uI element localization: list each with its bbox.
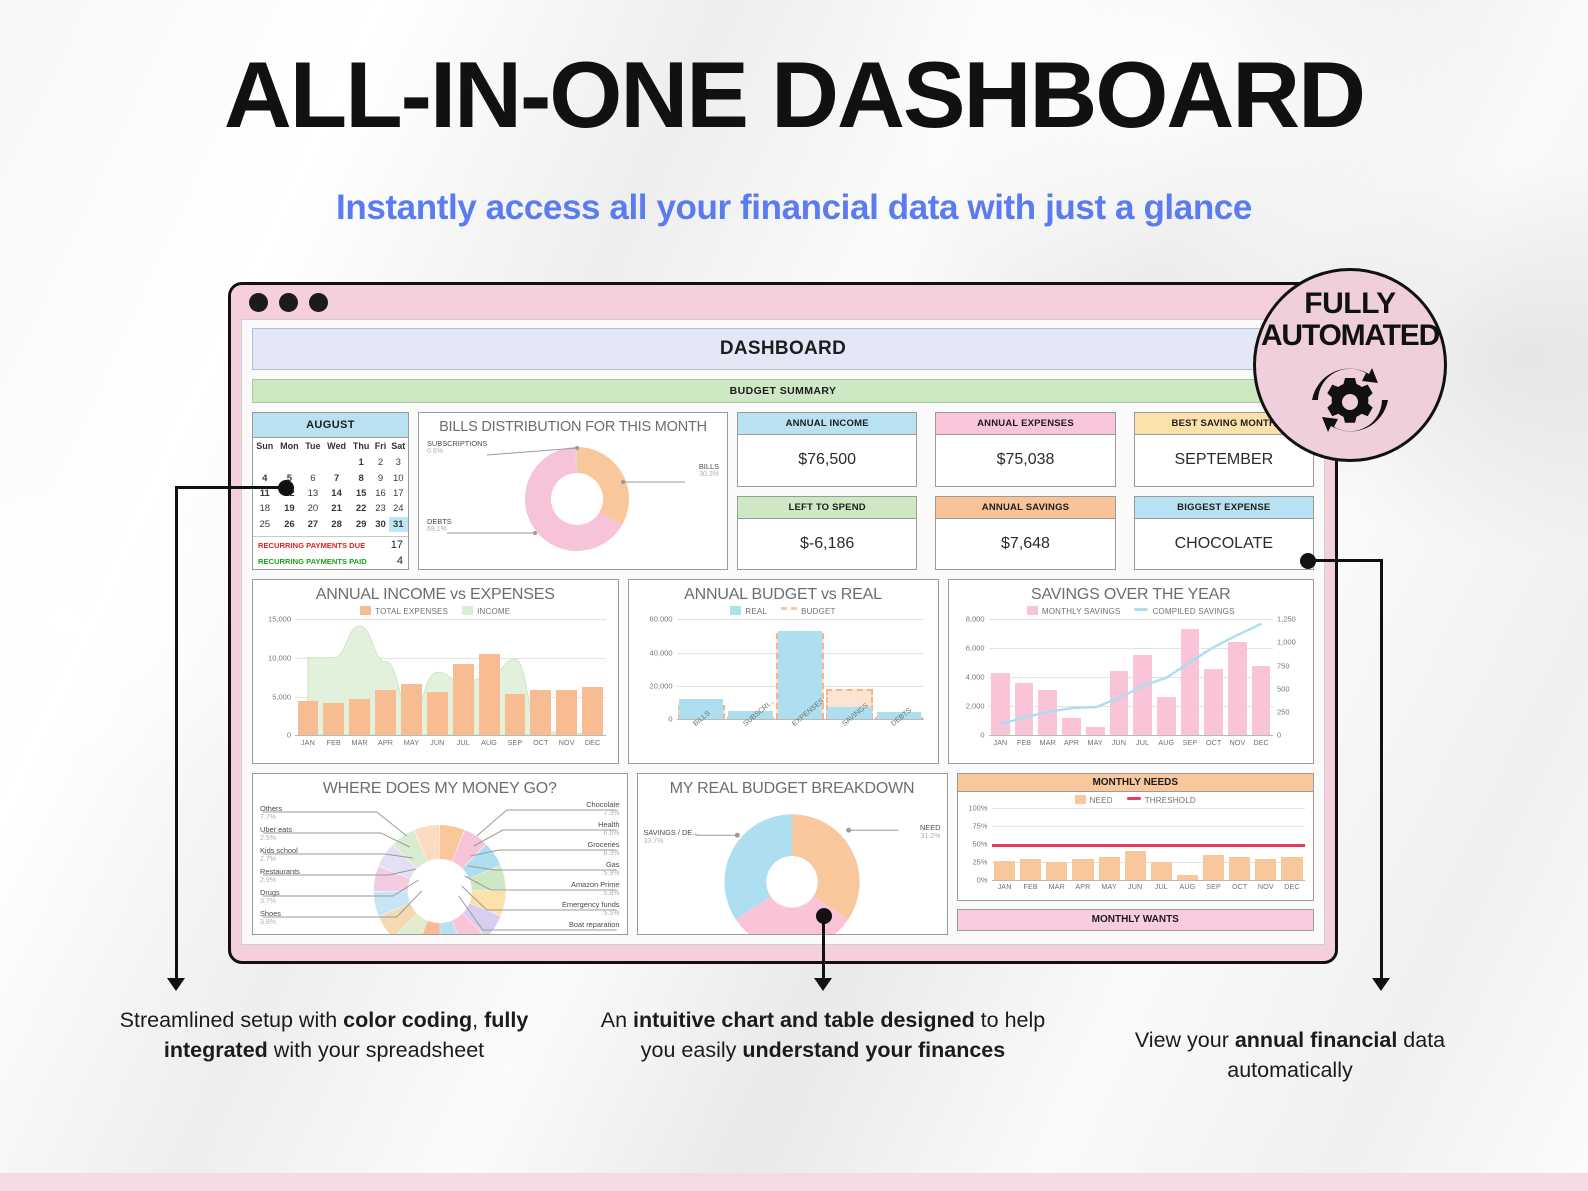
label-text: Groceries (587, 840, 619, 849)
calendar-day[interactable] (302, 455, 323, 470)
badge-line-2: AUTOMATED (1261, 319, 1439, 352)
calendar-day[interactable]: 17 (389, 486, 408, 501)
calendar-day[interactable]: 10 (389, 470, 408, 485)
calendar-day[interactable]: 19 (277, 501, 303, 516)
label-text: Amazon Prime (571, 880, 619, 889)
fully-automated-badge: FULLY AUTOMATED (1253, 268, 1447, 462)
calendar-day[interactable]: 22 (350, 501, 373, 516)
annotation-caption-center: An intuitive chart and table designed to… (588, 1006, 1058, 1065)
calendar-footer-row: RECURRING PAYMENTS DUE17 (253, 537, 408, 553)
label-pct: 3.7% (260, 898, 280, 907)
axis-tick-label: MAY (399, 738, 425, 747)
plot-budget-real: 60,000 40,000 20,000 0 (677, 619, 924, 719)
calendar-weekday: Sat (389, 438, 408, 455)
calendar-footer-label: RECURRING PAYMENTS PAID (258, 557, 367, 566)
kpi-card[interactable]: ANNUAL SAVINGS$7,648 (935, 496, 1115, 571)
window-close-dot[interactable] (249, 293, 268, 312)
label-pct: 7.7% (260, 814, 282, 823)
axis-tick-label: APR (1070, 882, 1096, 891)
calendar-day[interactable]: 24 (389, 501, 408, 516)
label-pct: 2.9% (260, 877, 300, 886)
monthly-needs-panel: MONTHLY NEEDS NEED THRESHOLD 100% 75% 50… (957, 773, 1315, 901)
calendar-footer-row: RECURRING PAYMENTS PAID4 (253, 553, 408, 569)
pie-label-savings-debts: SAVINGS / DE... 33.7% (644, 828, 699, 846)
axis-tick-label: JAN (992, 882, 1018, 891)
plot-income-expenses: 15,000 10,000 5,000 0 (295, 619, 606, 735)
legend-monthly-needs: NEED THRESHOLD (958, 795, 1314, 805)
kpi-value: $-6,186 (738, 519, 916, 570)
calendar-weekday-row: SunMonTueWedThuFriSat (253, 438, 408, 455)
xaxis-monthly-needs: JANFEBMARAPRMAYJUNJULAUGSEPOCTNOVDEC (992, 882, 1306, 891)
calendar-day[interactable]: 8 (350, 470, 373, 485)
calendar-week: 18192021222324 (253, 501, 408, 516)
label-pct: 5.5% (562, 910, 620, 919)
bottom-strip (0, 1173, 1588, 1191)
label-text: Uber eats (260, 825, 292, 834)
calendar-day[interactable]: 23 (373, 501, 389, 516)
annotation-caption-left: Streamlined setup with color coding, ful… (104, 1006, 544, 1065)
kpi-label: ANNUAL EXPENSES (936, 413, 1114, 435)
label-pct: 7.3% (586, 810, 619, 819)
calendar-day[interactable]: 27 (302, 517, 323, 532)
bar (1281, 857, 1302, 881)
pie-label-bills: BILLS 30.3% (699, 462, 719, 480)
chart-title-income-expenses: ANNUAL INCOME vs EXPENSES (261, 586, 610, 604)
label-text: Health (598, 820, 619, 829)
real-bar-series (677, 619, 924, 719)
bar (479, 654, 500, 736)
bar (1203, 855, 1224, 880)
window-maximize-dot[interactable] (309, 293, 328, 312)
annual-income-vs-expenses-panel: ANNUAL INCOME vs EXPENSES TOTAL EXPENSES… (252, 579, 619, 764)
bar (298, 701, 319, 735)
calendar-body[interactable]: 1234567891011121314151617181920212223242… (253, 455, 408, 536)
bar (505, 694, 526, 735)
bar (323, 703, 344, 735)
money-go-label: Chocolate7.3% (586, 800, 619, 818)
money-go-label: Amazon Prime5.8% (571, 880, 619, 898)
label-text: Boat reparation (569, 920, 620, 929)
kpi-card[interactable]: ANNUAL EXPENSES$75,038 (935, 412, 1115, 487)
calendar-day[interactable]: 14 (324, 486, 350, 501)
annual-budget-vs-real-panel: ANNUAL BUDGET vs REAL REAL BUDGET 60,000… (628, 579, 939, 764)
axis-tick-label: MAR (1044, 882, 1070, 891)
calendar-weekday: Sun (253, 438, 277, 455)
money-go-label: Health6.6% (598, 820, 619, 838)
plot-savings: 8,000 1,250 6,000 1,000 4,000 750 2,000 … (989, 619, 1274, 735)
money-go-label: Boat reparation (569, 920, 620, 929)
kpi-label: LEFT TO SPEND (738, 497, 916, 519)
calendar-weekday: Wed (324, 438, 350, 455)
money-go-label: Shoes3.8% (260, 909, 281, 927)
page-title: ALL-IN-ONE DASHBOARD (0, 48, 1588, 142)
kpi-card[interactable]: LEFT TO SPEND$-6,186 (737, 496, 917, 571)
axis-tick-label: NOV (554, 738, 580, 747)
calendar-day[interactable]: 25 (253, 517, 277, 532)
calendar-day[interactable] (324, 455, 350, 470)
bar (427, 692, 448, 735)
axis-tick-label: DEC (580, 738, 606, 747)
page-subtitle: Instantly access all your financial data… (0, 188, 1588, 228)
kpi-label: ANNUAL SAVINGS (936, 497, 1114, 519)
label-text: Shoes (260, 909, 281, 918)
label-text: Chocolate (586, 800, 619, 809)
legend-income-expenses: TOTAL EXPENSES INCOME (261, 606, 610, 616)
axis-tick-label: SEP (1201, 882, 1227, 891)
kpi-card[interactable]: BIGGEST EXPENSECHOCOLATE (1134, 496, 1314, 571)
axis-tick-label: MAY (1083, 738, 1107, 747)
calendar-weekday: Thu (350, 438, 373, 455)
calendar-day[interactable] (253, 455, 277, 470)
axis-tick-label: APR (1060, 738, 1084, 747)
label-pct: 6.6% (598, 830, 619, 839)
calendar-day[interactable]: 21 (324, 501, 350, 516)
bills-distribution-title: BILLS DISTRIBUTION FOR THIS MONTH (427, 419, 719, 435)
bills-distribution-panel: BILLS DISTRIBUTION FOR THIS MONTH SU (418, 412, 728, 570)
bar (1099, 857, 1120, 881)
money-go-label: Emergency funds5.5% (562, 900, 620, 918)
axis-tick-label: JAN (295, 738, 321, 747)
calendar-weekday: Mon (277, 438, 303, 455)
pie-label-need: NEED 31.2% (920, 823, 941, 841)
annotation-caption-right: View your annual financial data automati… (1090, 1026, 1490, 1085)
calendar-weekday: Tue (302, 438, 323, 455)
bar (556, 690, 577, 735)
annotation-arrow-right (1372, 978, 1390, 991)
axis-tick-label: NOV (1253, 882, 1279, 891)
label-text: Gas (606, 860, 620, 869)
kpi-value: $75,038 (936, 435, 1114, 486)
axis-tick-label: OCT (1202, 738, 1226, 747)
dashboard-screen: DASHBOARD BUDGET SUMMARY AUGUST SunMonTu… (241, 319, 1325, 945)
calendar-week: 25262728293031 (253, 517, 408, 532)
compiled-savings-line (989, 619, 1274, 735)
chart-title-savings: SAVINGS OVER THE YEAR (957, 586, 1306, 604)
window-titlebar (231, 285, 1335, 319)
bar (453, 664, 474, 735)
calendar-day[interactable]: 6 (302, 470, 323, 485)
kpi-value: $76,500 (738, 435, 916, 486)
label-pct: 2.7% (260, 856, 298, 865)
real-budget-breakdown-panel: MY REAL BUDGET BREAKDOWN SAVINGS / DE...… (637, 773, 948, 935)
calendar-footer-value: 17 (383, 539, 403, 551)
calendar-day[interactable]: 18 (253, 501, 277, 516)
money-go-label: Uber eats2.5% (260, 825, 292, 843)
bar (1072, 859, 1093, 880)
pie-label-subscriptions: SUBSCRIPTIONS 0.6% (427, 439, 487, 457)
money-go-label: Others7.7% (260, 804, 282, 822)
money-go-label: Groceries6.3% (587, 840, 619, 858)
calendar-month: AUGUST (253, 413, 408, 438)
axis-tick-label: JUN (424, 738, 450, 747)
axis-tick-label: NOV (1226, 738, 1250, 747)
gear-refresh-icon (1304, 356, 1396, 444)
chart-title-budget-real: ANNUAL BUDGET vs REAL (637, 586, 930, 604)
label-pct: 5.9% (604, 870, 620, 879)
calendar-day[interactable]: 13 (302, 486, 323, 501)
bar (1177, 875, 1198, 881)
calendar-day[interactable]: 3 (389, 455, 408, 470)
xaxis-savings: JANFEBMARAPRMAYJUNJULAUGSEPOCTNOVDEC (989, 738, 1274, 747)
axis-tick-label: FEB (321, 738, 347, 747)
axis-tick-label: MAR (347, 738, 373, 747)
label-text: Others (260, 804, 282, 813)
kpi-value: SEPTEMBER (1135, 435, 1313, 486)
axis-tick-label: FEB (1012, 738, 1036, 747)
calendar-footer-label: RECURRING PAYMENTS DUE (258, 541, 365, 550)
axis-tick-label: OCT (528, 738, 554, 747)
browser-window: DASHBOARD BUDGET SUMMARY AUGUST SunMonTu… (228, 282, 1338, 964)
xaxis-income-expenses: JANFEBMARAPRMAYJUNJULAUGSEPOCTNOVDEC (295, 738, 606, 747)
axis-tick-label: AUG (1174, 882, 1200, 891)
bar (530, 690, 551, 736)
axis-tick-label: JAN (989, 738, 1013, 747)
annotation-arrow-center (814, 978, 832, 991)
calendar-day[interactable]: 16 (373, 486, 389, 501)
legend-budget-real: REAL BUDGET (637, 606, 930, 616)
money-go-label: Kids school2.7% (260, 846, 298, 864)
where-money-go-panel: WHERE DOES MY MONEY GO? Others7.7%Uber e… (252, 773, 628, 935)
savings-over-year-panel: SAVINGS OVER THE YEAR MONTHLY SAVINGS CO… (948, 579, 1315, 764)
calendar-week: 123 (253, 455, 408, 470)
threshold-line (992, 844, 1306, 847)
monthly-wants-title: MONTHLY WANTS (958, 910, 1314, 929)
axis-tick-label: AUG (476, 738, 502, 747)
bar (401, 684, 422, 735)
axis-tick-label: JUL (1148, 882, 1174, 891)
budget-breakdown-donut (638, 794, 947, 935)
expenses-bar-series (295, 619, 606, 735)
label-text: Restaurants (260, 867, 300, 876)
calendar-day[interactable]: 20 (302, 501, 323, 516)
axis-tick-label: SEP (1178, 738, 1202, 747)
annotation-line-right-v (1380, 559, 1383, 981)
calendar-week: 45678910 (253, 470, 408, 485)
summary-row: AUGUST SunMonTueWedThuFriSat 12345678910… (252, 412, 1314, 570)
calendar-day[interactable]: 29 (350, 517, 373, 532)
axis-tick-label: DEC (1249, 738, 1273, 747)
money-go-label: Drugs3.7% (260, 888, 280, 906)
bar (994, 861, 1015, 880)
bar (1255, 859, 1276, 880)
window-minimize-dot[interactable] (279, 293, 298, 312)
kpi-value: $7,648 (936, 519, 1114, 570)
calendar-day[interactable]: 2 (373, 455, 389, 470)
calendar-day[interactable]: 4 (253, 470, 277, 485)
label-pct: 2.5% (260, 835, 292, 844)
axis-tick-label: JUL (450, 738, 476, 747)
axis-tick-label: AUG (1154, 738, 1178, 747)
kpi-value: CHOCOLATE (1135, 519, 1313, 570)
annotation-line-center (822, 914, 825, 981)
bar (1125, 851, 1146, 880)
axis-tick-label: SEP (502, 738, 528, 747)
calendar-day[interactable]: 31 (389, 517, 408, 532)
annotation-line-left-h (175, 486, 286, 489)
label-text: Drugs (260, 888, 280, 897)
calendar-day[interactable]: 9 (373, 470, 389, 485)
bar (582, 687, 603, 736)
calendar-panel[interactable]: AUGUST SunMonTueWedThuFriSat 12345678910… (252, 412, 409, 570)
bar (1046, 862, 1067, 880)
kpi-label: ANNUAL INCOME (738, 413, 916, 435)
calendar-day[interactable]: 26 (277, 517, 303, 532)
label-pct: 6.3% (587, 850, 619, 859)
charts-row-1: ANNUAL INCOME vs EXPENSES TOTAL EXPENSES… (252, 579, 1314, 764)
label-pct: 3.8% (260, 919, 281, 928)
kpi-card[interactable]: ANNUAL INCOME$76,500 (737, 412, 917, 487)
label-pct: 5.8% (571, 890, 619, 899)
kpi-grid: ANNUAL INCOME$76,500ANNUAL EXPENSES$75,0… (737, 412, 1314, 570)
money-go-label: Gas5.9% (604, 860, 620, 878)
axis-tick-label: JUN (1107, 738, 1131, 747)
axis-tick-label: APR (373, 738, 399, 747)
label-text: Emergency funds (562, 900, 620, 909)
monthly-needs-wants-column: MONTHLY NEEDS NEED THRESHOLD 100% 75% 50… (957, 773, 1315, 935)
bar (1020, 859, 1041, 881)
annotation-line-left-v (175, 486, 178, 981)
axis-tick-label: FEB (1018, 882, 1044, 891)
axis-tick-label: DEC (1279, 882, 1305, 891)
calendar-day[interactable] (277, 455, 303, 470)
monthly-wants-panel: MONTHLY WANTS (957, 909, 1315, 931)
calendar-footer-value: 4 (389, 555, 403, 567)
axis-tick-label: JUN (1122, 882, 1148, 891)
calendar-day[interactable]: 1 (350, 455, 373, 470)
axis-tick-label: MAY (1096, 882, 1122, 891)
calendar-day[interactable]: 30 (373, 517, 389, 532)
money-go-label: Restaurants2.9% (260, 867, 300, 885)
axis-tick-label: MAR (1036, 738, 1060, 747)
bar (349, 699, 370, 735)
monthly-needs-title: MONTHLY NEEDS (958, 774, 1314, 792)
badge-line-1: FULLY (1304, 289, 1395, 319)
annotation-arrow-left (167, 978, 185, 991)
annotation-line-right-h (1308, 559, 1383, 562)
calendar-day[interactable]: 7 (324, 470, 350, 485)
xaxis-budget-real: BILLSSUBSCRI...EXPENSESSAVINGSDEBTS (677, 719, 924, 759)
charts-row-2: WHERE DOES MY MONEY GO? Others7.7%Uber e… (252, 773, 1314, 935)
calendar-footer: RECURRING PAYMENTS DUE17RECURRING PAYMEN… (253, 536, 408, 569)
bar (375, 690, 396, 735)
dashboard-title: DASHBOARD (252, 328, 1314, 370)
calendar-day[interactable]: 28 (324, 517, 350, 532)
legend-savings: MONTHLY SAVINGS COMPILED SAVINGS (957, 606, 1306, 616)
axis-tick-label: OCT (1227, 882, 1253, 891)
label-text: Kids school (260, 846, 298, 855)
calendar-weekday: Fri (373, 438, 389, 455)
axis-tick-label: JUL (1131, 738, 1155, 747)
calendar-day[interactable]: 15 (350, 486, 373, 501)
bar (1229, 857, 1250, 881)
kpi-label: BIGGEST EXPENSE (1135, 497, 1313, 519)
budget-summary-bar: BUDGET SUMMARY (252, 379, 1314, 403)
plot-monthly-needs: 100% 75% 50% 25% 0% (992, 808, 1306, 880)
bar (1151, 862, 1172, 881)
pie-label-debts: DEBTS 69.1% (427, 517, 452, 535)
